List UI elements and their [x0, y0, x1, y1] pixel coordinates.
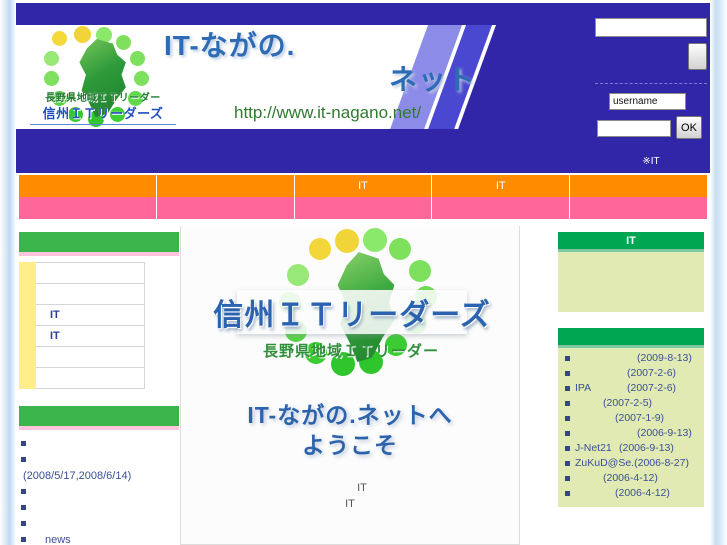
subnav-item-4[interactable]: [432, 197, 570, 219]
table-cell-label[interactable]: IT: [36, 305, 145, 326]
hero-ring-dot: [363, 228, 387, 252]
main-content: 信州ＩＴリーダーズ 長野県地域ＩＴリーダー IT-ながの.ネットへ ようこそ I…: [180, 226, 520, 545]
search-input[interactable]: [595, 18, 707, 37]
table-row[interactable]: [20, 263, 145, 284]
logo-ring-dot: [130, 51, 145, 66]
hero-ring-dot: [409, 260, 431, 282]
subnav-item-5[interactable]: [570, 197, 707, 219]
hero-logo-main-text: 信州ＩＴリーダーズ: [237, 290, 467, 334]
banner-url: http://www.it-nagano.net/: [234, 103, 421, 123]
password-input[interactable]: [597, 120, 671, 137]
link-name: ZuKuD@Se.: [575, 456, 634, 471]
list-item-date: (2008/5/17,2008/6/14): [19, 468, 179, 484]
hero-logo-sub-text: 長野県地域ＩＴリーダー: [181, 340, 521, 361]
link-name: IPA: [575, 381, 627, 396]
right-sidebar-link-list: (2009-8-13) (2007-2-6) IPA(2007-2-6) (20…: [558, 348, 704, 507]
row-marker: [20, 368, 36, 389]
list-item[interactable]: news: [19, 532, 179, 545]
table-cell-label[interactable]: [36, 347, 145, 368]
list-item[interactable]: (2007-2-5): [562, 396, 700, 411]
hero-ring-dot: [287, 264, 309, 286]
link-date: (2007-2-6): [627, 367, 676, 379]
nav-item-4[interactable]: IT: [432, 175, 570, 197]
list-item[interactable]: IPA(2007-2-6): [562, 381, 700, 396]
table-row[interactable]: IT: [20, 305, 145, 326]
list-item[interactable]: (2006-4-12): [562, 471, 700, 486]
nav-item-3[interactable]: IT: [295, 175, 433, 197]
main-body-line-2: IT: [181, 496, 519, 512]
table-row[interactable]: [20, 368, 145, 389]
table-cell-label[interactable]: [36, 263, 145, 284]
username-input[interactable]: [609, 93, 686, 110]
nav-item-2[interactable]: [157, 175, 295, 197]
list-item[interactable]: (2007-2-6): [562, 366, 700, 381]
site-header: 長野県地域ＩＴリーダー 信州ＩＴリーダーズ IT-ながの. ネット http:/…: [16, 3, 710, 173]
banner-title-line2: ネット: [164, 63, 494, 97]
row-marker: [20, 305, 36, 326]
list-item[interactable]: [19, 484, 179, 500]
table-row[interactable]: [20, 347, 145, 368]
page-left-border: [0, 0, 16, 545]
hero-ring-dot: [309, 238, 331, 260]
list-item-label: news: [33, 534, 71, 545]
list-item[interactable]: (2006-9-13): [562, 426, 700, 441]
logo-ring-dot: [134, 71, 149, 86]
hero-ring-dot: [389, 238, 411, 260]
nav-item-1[interactable]: [19, 175, 157, 197]
row-marker: [20, 284, 36, 305]
list-item[interactable]: [19, 516, 179, 532]
right-sidebar: IT (2009-8-13) (2007-2-6) IPA(2007-2-6) …: [558, 232, 704, 545]
site-banner: 長野県地域ＩＴリーダー 信州ＩＴリーダーズ IT-ながの. ネット http:/…: [16, 25, 596, 129]
row-marker: [20, 263, 36, 284]
subnav-item-2[interactable]: [157, 197, 295, 219]
list-item[interactable]: J-Net21(2006-9-13): [562, 441, 700, 456]
welcome-line-2: ようこそ: [181, 430, 519, 460]
link-date: (2006-4-12): [615, 487, 670, 499]
logo-ring-dot: [44, 51, 59, 66]
nav-item-5[interactable]: [570, 175, 707, 197]
logo-ring-dot: [52, 31, 67, 46]
logo-ring-dot: [116, 35, 131, 50]
subnav-item-3[interactable]: [295, 197, 433, 219]
right-sidebar-block-2: (2009-8-13) (2007-2-6) IPA(2007-2-6) (20…: [558, 328, 704, 507]
list-item[interactable]: [19, 436, 179, 452]
table-row[interactable]: IT: [20, 326, 145, 347]
left-sidebar-heading-1: [19, 232, 179, 256]
hero-ring-dot: [335, 229, 359, 253]
right-sidebar-heading-2: [558, 328, 704, 348]
header-divider: [595, 83, 707, 84]
link-date: (2007-2-5): [603, 397, 652, 409]
banner-title-line1: IT-ながの.: [164, 29, 494, 63]
link-date: (2007-2-6): [627, 382, 676, 394]
header-note: ※IT: [595, 156, 707, 167]
left-sidebar-block-2: (2008/5/17,2008/6/14) news: [19, 406, 179, 545]
list-item[interactable]: [19, 452, 179, 468]
logo-text-bottom: 信州ＩＴリーダーズ: [30, 103, 176, 125]
list-item[interactable]: (2006-4-12): [562, 486, 700, 501]
list-item[interactable]: [19, 500, 179, 516]
nav-row-secondary: [19, 197, 707, 219]
left-sidebar-list: (2008/5/17,2008/6/14) news: [19, 436, 179, 545]
page-right-border: [710, 0, 727, 545]
login-ok-button[interactable]: OK: [676, 116, 702, 139]
link-date: (2006-4-12): [603, 472, 658, 484]
list-item[interactable]: ZuKuD@Se.(2006-8-27): [562, 456, 700, 471]
table-row[interactable]: [20, 284, 145, 305]
nav-row-primary: IT IT: [19, 175, 707, 197]
organization-logo[interactable]: 長野県地域ＩＴリーダー 信州ＩＴリーダーズ: [30, 29, 176, 125]
row-marker: [20, 347, 36, 368]
subnav-item-1[interactable]: [19, 197, 157, 219]
link-date: (2007-1-9): [615, 412, 664, 424]
link-date: (2006-8-27): [634, 457, 689, 469]
link-date: (2009-8-13): [637, 352, 692, 364]
right-sidebar-panel-1: [558, 252, 704, 312]
link-date: (2006-9-13): [637, 427, 692, 439]
list-item[interactable]: (2009-8-13): [562, 351, 700, 366]
main-navigation: IT IT: [19, 175, 707, 219]
search-button[interactable]: [688, 43, 707, 70]
right-sidebar-heading-1: IT: [558, 232, 704, 252]
banner-title: IT-ながの. ネット: [164, 29, 494, 97]
link-date: (2006-9-13): [619, 442, 674, 454]
link-name: J-Net21: [575, 441, 619, 456]
left-sidebar: IT IT (: [19, 232, 179, 545]
left-sidebar-table: IT IT: [19, 262, 145, 389]
welcome-heading: IT-ながの.ネットへ ようこそ: [181, 400, 519, 460]
logo-ring-dot: [74, 26, 91, 43]
logo-text-top: 長野県地域ＩＴリーダー: [30, 89, 176, 104]
main-hero-logo: 信州ＩＴリーダーズ 長野県地域ＩＴリーダー: [181, 228, 521, 396]
list-item[interactable]: (2007-1-9): [562, 411, 700, 426]
welcome-line-1: IT-ながの.ネットへ: [181, 400, 519, 430]
table-cell-label[interactable]: [36, 368, 145, 389]
row-marker: [20, 326, 36, 347]
table-cell-label[interactable]: IT: [36, 326, 145, 347]
logo-ring-dot: [44, 71, 59, 86]
left-sidebar-heading-2: [19, 406, 179, 430]
page-root: 長野県地域ＩＴリーダー 信州ＩＴリーダーズ IT-ながの. ネット http:/…: [0, 0, 727, 545]
main-body-line-1: IT: [181, 480, 519, 496]
main-body-text: IT IT: [181, 480, 519, 512]
table-cell-label[interactable]: [36, 284, 145, 305]
